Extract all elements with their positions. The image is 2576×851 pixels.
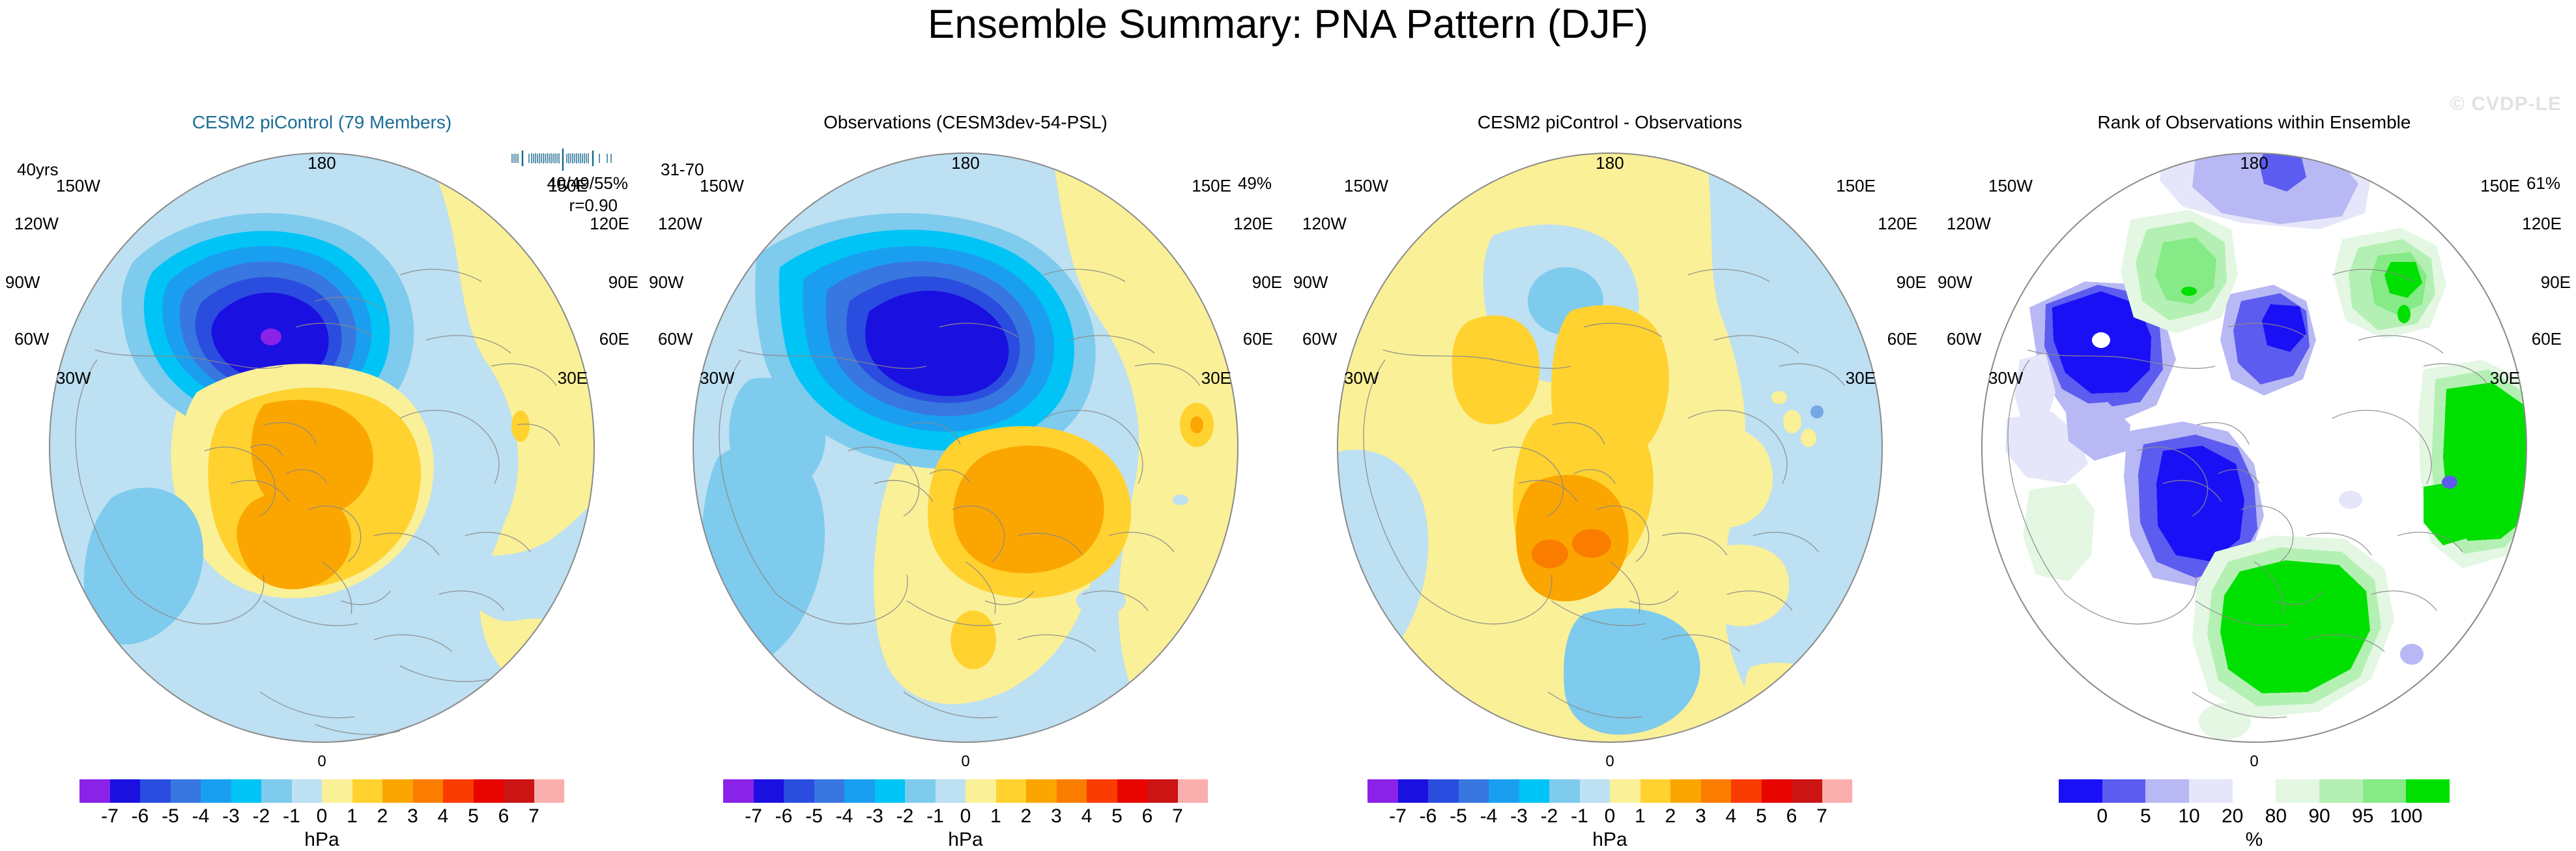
lon-label-90E: 90E (608, 272, 638, 293)
colorbar-tick-label: 0 (960, 805, 971, 828)
colorbar-swatch (1762, 779, 1792, 803)
lon-label-30E: 30E (2490, 368, 2520, 388)
colorbar-swatch (110, 779, 141, 803)
colorbar-tick-label: 0 (1605, 805, 1616, 828)
panel-title: Observations (CESM3dev-54-PSL) (644, 112, 1287, 133)
colorbar-swatch (1428, 779, 1459, 803)
colorbar-tick-label: -3 (222, 805, 240, 828)
colorbar-zero-label: 0 (317, 753, 326, 771)
map-plot (679, 145, 1252, 751)
colorbar-swatch (261, 779, 292, 803)
colorbar-tick-label: 80 (2265, 805, 2287, 828)
lon-label-30W: 30W (1344, 368, 1379, 388)
colorbar-swatch (201, 779, 231, 803)
colorbar-swatch (534, 779, 565, 803)
colorbar-tick-label: -5 (1450, 805, 1467, 828)
colorbar-swatch (1640, 779, 1671, 803)
colorbar-swatch (1610, 779, 1640, 803)
lon-label-180: 180 (951, 153, 979, 173)
colorbar-tick-label: -6 (775, 805, 793, 828)
lon-label-120W: 120W (1302, 214, 1347, 234)
colorbar-tick-label: -7 (101, 805, 119, 828)
colorbar-swatch (1178, 779, 1209, 803)
colorbar-swatch (2363, 779, 2407, 803)
colorbar-tick-label: 10 (2178, 805, 2199, 828)
colorbar-tick-label: -4 (836, 805, 853, 828)
colorbar-tick-label: 5 (468, 805, 479, 828)
colorbar-swatch (140, 779, 171, 803)
colorbar-tick-label: 95 (2352, 805, 2373, 828)
colorbar-tick-label: 90 (2308, 805, 2330, 828)
panel-cesm2-picontrol: CESM2 piControl (79 Members) 40yrs 40/49… (0, 98, 644, 841)
lon-label-60W: 60W (1947, 329, 1981, 349)
colorbar-tick-label: 1 (1635, 805, 1646, 828)
lon-label-60W: 60W (14, 329, 49, 349)
panel-title: CESM2 piControl - Observations (1288, 112, 1932, 133)
colorbar-swatch (1549, 779, 1580, 803)
lon-label-150W: 150W (700, 176, 744, 196)
colorbar-swatch (905, 779, 936, 803)
colorbar-swatch (443, 779, 474, 803)
colorbar-swatch (1459, 779, 1489, 803)
colorbar-swatch (1822, 779, 1853, 803)
colorbar[interactable] (2059, 779, 2450, 803)
lon-label-60E: 60E (1887, 329, 1917, 349)
panel-rank: Rank of Observations within Ensemble 61% (1932, 98, 2576, 841)
colorbar-swatch (2319, 779, 2363, 803)
colorbar-swatch (2406, 779, 2450, 803)
colorbar-swatch (322, 779, 352, 803)
colorbar[interactable] (723, 779, 1208, 803)
colorbar-tick-label: -5 (805, 805, 823, 828)
colorbar-swatch (1580, 779, 1610, 803)
colorbar-swatch (504, 779, 534, 803)
colorbar-swatch (1731, 779, 1762, 803)
lon-label-60E: 60E (2532, 329, 2562, 349)
colorbar-swatch (2145, 779, 2189, 803)
colorbar-swatch (231, 779, 262, 803)
panel-title: CESM2 piControl (79 Members) (0, 112, 644, 133)
colorbar-tick-label: -4 (192, 805, 210, 828)
colorbar-tick-label: 7 (1816, 805, 1827, 828)
colorbar-tick-label: -2 (896, 805, 914, 828)
colorbar-tick-label: 4 (1081, 805, 1093, 828)
colorbar-tick-label: 0 (2097, 805, 2108, 828)
colorbar-swatch (1792, 779, 1822, 803)
lon-label-30E: 30E (1846, 368, 1876, 388)
colorbar-swatch (1026, 779, 1057, 803)
lon-label-90W: 90W (649, 272, 683, 293)
colorbar-swatch (2189, 779, 2233, 803)
colorbar-tick-label: -7 (745, 805, 762, 828)
lon-label-90W: 90W (1293, 272, 1328, 293)
lon-label-120E: 120E (590, 214, 629, 234)
lon-label-60E: 60E (1243, 329, 1273, 349)
colorbar-swatch (1117, 779, 1148, 803)
colorbar-swatch (2102, 779, 2146, 803)
colorbar-tick-label: -7 (1389, 805, 1407, 828)
colorbar-tick-label: 5 (1111, 805, 1123, 828)
lon-label-120E: 120E (1233, 214, 1273, 234)
colorbar-ticks: 051020809095100 (2059, 805, 2450, 828)
lon-label-60E: 60E (599, 329, 629, 349)
colorbar-tick-label: 2 (377, 805, 388, 828)
colorbar-tick-label: 3 (1051, 805, 1062, 828)
lon-label-60W: 60W (658, 329, 693, 349)
colorbar-swatch (382, 779, 413, 803)
lon-label-150W: 150W (1988, 176, 2033, 196)
colorbar-zero-label: 0 (1605, 753, 1614, 771)
colorbar-tick-label: -4 (1480, 805, 1498, 828)
colorbar-tick-label: 2 (1665, 805, 1676, 828)
map-plot (1968, 145, 2541, 751)
colorbar-swatch (1057, 779, 1087, 803)
colorbar-swatch (814, 779, 845, 803)
colorbar-tick-label: 100 (2390, 805, 2422, 828)
lon-label-60W: 60W (1302, 329, 1337, 349)
lon-label-30W: 30W (700, 368, 734, 388)
colorbar-swatch (966, 779, 996, 803)
lon-label-90W: 90W (5, 272, 40, 293)
map-plot (35, 145, 608, 751)
colorbar-swatch (2059, 779, 2102, 803)
colorbar-tick-label: -1 (1571, 805, 1588, 828)
lon-label-30W: 30W (1988, 368, 2023, 388)
colorbar-swatch (1489, 779, 1519, 803)
colorbar-swatch (1670, 779, 1701, 803)
colorbar-ticks: -7-6-5-4-3-2-101234567 (79, 805, 564, 828)
colorbar-swatch (2233, 779, 2276, 803)
lon-label-150E: 150E (2480, 176, 2520, 196)
colorbar-tick-label: 7 (1172, 805, 1183, 828)
lon-label-120E: 120E (1878, 214, 1917, 234)
colorbar-swatch (1147, 779, 1178, 803)
colorbar-swatch (996, 779, 1027, 803)
lon-label-150E: 150E (1836, 176, 1876, 196)
panel-title: Rank of Observations within Ensemble (1932, 112, 2576, 133)
lon-label-30W: 30W (56, 368, 91, 388)
lon-label-90E: 90E (1252, 272, 1282, 293)
colorbar-tick-label: 4 (1726, 805, 1737, 828)
colorbar-zero-label: 0 (2250, 753, 2258, 771)
colorbar-tick-label: -2 (253, 805, 270, 828)
colorbar-tick-label: -1 (283, 805, 300, 828)
lon-label-150W: 150W (1344, 176, 1388, 196)
colorbar-tick-label: -6 (1420, 805, 1437, 828)
colorbar-swatch (875, 779, 906, 803)
colorbar-swatch (352, 779, 383, 803)
colorbar-tick-label: -6 (132, 805, 149, 828)
colorbar-swatch (1367, 779, 1398, 803)
lon-label-180: 180 (2240, 153, 2268, 173)
colorbar-tick-label: -5 (162, 805, 179, 828)
colorbar-tick-label: -2 (1541, 805, 1558, 828)
colorbar-swatch (474, 779, 504, 803)
colorbar-tick-label: 7 (528, 805, 539, 828)
colorbar-tick-label: 4 (438, 805, 449, 828)
lon-label-90W: 90W (1938, 272, 1972, 293)
colorbar-swatch (413, 779, 444, 803)
lon-label-120E: 120E (2522, 214, 2562, 234)
colorbar-tick-label: 5 (2140, 805, 2151, 828)
lon-label-90E: 90E (2541, 272, 2571, 293)
lon-label-180: 180 (1596, 153, 1624, 173)
colorbar-tick-label: 6 (1786, 805, 1797, 828)
colorbar-tick-label: 2 (1021, 805, 1032, 828)
lon-label-90E: 90E (1896, 272, 1926, 293)
colorbar-swatch (723, 779, 754, 803)
colorbar-swatch (1087, 779, 1117, 803)
colorbar-tick-label: 3 (1695, 805, 1706, 828)
lon-label-30E: 30E (1201, 368, 1231, 388)
lon-label-120W: 120W (1947, 214, 1991, 234)
colorbar-ticks: -7-6-5-4-3-2-101234567 (1367, 805, 1852, 828)
colorbar-swatch (2276, 779, 2319, 803)
colorbar-units: hPa (1592, 829, 1627, 851)
colorbar[interactable] (79, 779, 564, 803)
colorbar-tick-label: -1 (926, 805, 944, 828)
colorbar-tick-label: 1 (990, 805, 1001, 828)
lon-label-120W: 120W (14, 214, 59, 234)
colorbar-ticks: -7-6-5-4-3-2-101234567 (723, 805, 1208, 828)
colorbar-tick-label: 20 (2222, 805, 2243, 828)
colorbar-swatch (1701, 779, 1732, 803)
map-plot (1323, 145, 1896, 751)
colorbar-tick-label: 5 (1756, 805, 1767, 828)
colorbar-tick-label: -3 (1510, 805, 1528, 828)
colorbar[interactable] (1367, 779, 1852, 803)
page-title: Ensemble Summary: PNA Pattern (DJF) (0, 1, 2576, 48)
colorbar-tick-label: 6 (1142, 805, 1153, 828)
colorbar-swatch (79, 779, 110, 803)
colorbar-swatch (784, 779, 814, 803)
colorbar-units: hPa (304, 829, 339, 851)
colorbar-zero-label: 0 (961, 753, 969, 771)
colorbar-units: hPa (948, 829, 982, 851)
colorbar-swatch (292, 779, 322, 803)
colorbar-tick-label: 1 (347, 805, 358, 828)
colorbar-units: % (2246, 829, 2263, 851)
colorbar-tick-label: 3 (407, 805, 418, 828)
lon-label-30E: 30E (558, 368, 588, 388)
lon-label-150E: 150E (1192, 176, 1231, 196)
lon-label-150E: 150E (548, 176, 588, 196)
colorbar-swatch (1398, 779, 1429, 803)
lon-label-180: 180 (308, 153, 336, 173)
lon-label-150W: 150W (56, 176, 100, 196)
panel-difference: CESM2 piControl - Observations (1288, 98, 1932, 841)
colorbar-tick-label: -3 (866, 805, 883, 828)
lon-label-120W: 120W (658, 214, 702, 234)
colorbar-swatch (171, 779, 201, 803)
colorbar-swatch (1519, 779, 1550, 803)
colorbar-swatch (936, 779, 966, 803)
colorbar-tick-label: 6 (498, 805, 509, 828)
colorbar-swatch (754, 779, 784, 803)
panel-observations: Observations (CESM3dev-54-PSL) 31-70 49% (644, 98, 1287, 841)
colorbar-swatch (844, 779, 875, 803)
colorbar-tick-label: 0 (317, 805, 328, 828)
